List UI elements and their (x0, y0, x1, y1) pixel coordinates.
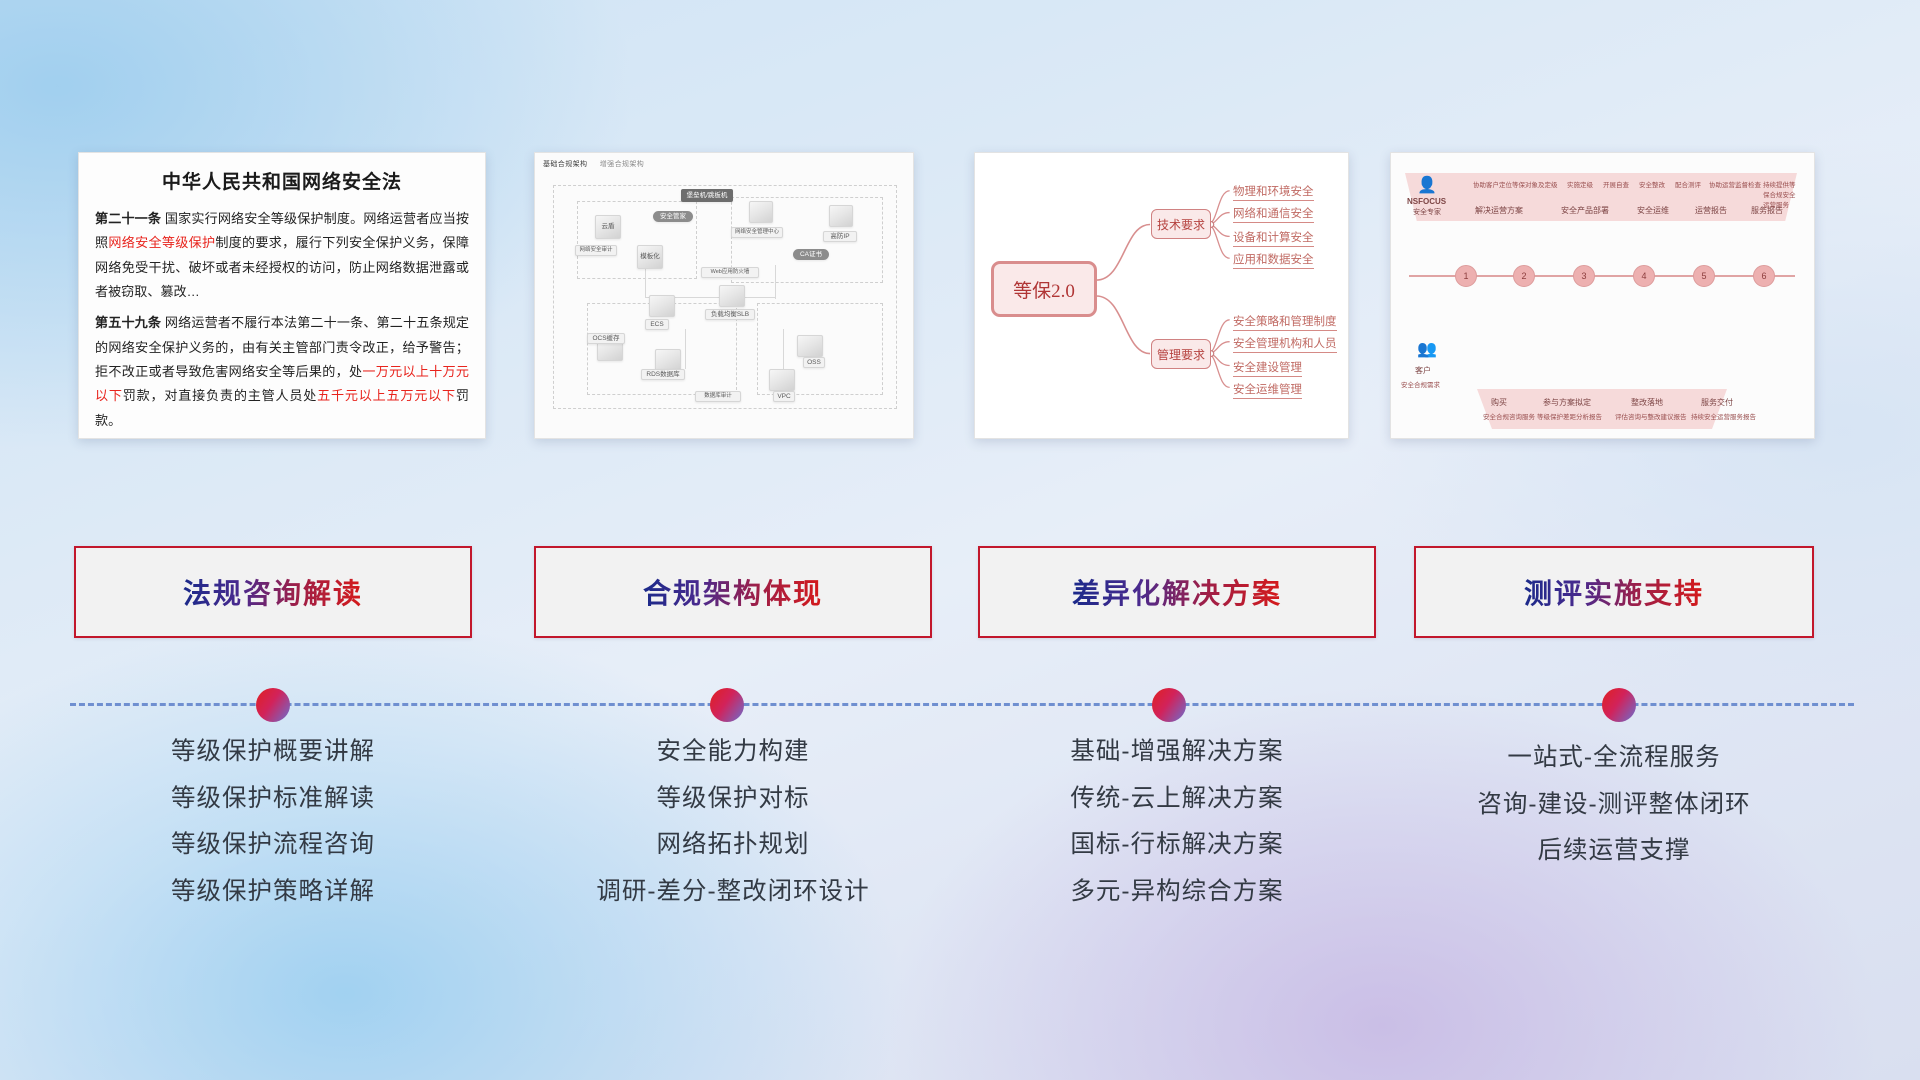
architecture-node-slb-label[interactable]: 负载均衡SLB (705, 309, 755, 320)
roadmap-row-item-2: 安全运维 (1637, 205, 1669, 216)
timeline-dot-3[interactable] (1152, 688, 1186, 722)
architecture-node-oss-label[interactable]: OSS (803, 357, 825, 368)
bullet-column-2: 基础-增强解决方案 传统-云上解决方案 国标-行标解决方案 多元-异构综合方案 (978, 740, 1376, 926)
headline-label-2: 差异化解决方案 (1072, 572, 1282, 612)
roadmap-step-1[interactable]: 1 (1455, 265, 1477, 287)
mindmap-leaf-construction-mgmt[interactable]: 安全建设管理 (1233, 359, 1302, 377)
architecture-node-ca-cert[interactable]: CA证书 (793, 249, 829, 260)
mindmap-root-node[interactable]: 等保2.0 (991, 261, 1097, 317)
architecture-node-ecs[interactable] (649, 295, 675, 317)
architecture-node-ocs-label[interactable]: OCS缓存 (587, 333, 625, 344)
list-item: 等级保护流程咨询 (74, 833, 472, 858)
roadmap-bottom-item-1: 参与方案拟定 (1543, 397, 1591, 408)
architecture-tab-enhanced[interactable]: 增强合规架构 (600, 161, 644, 168)
architecture-node-rds[interactable] (655, 349, 681, 371)
roadmap-left-label: 客户 (1415, 365, 1431, 376)
architecture-tab-basic[interactable]: 基础合规架构 (543, 161, 587, 168)
architecture-node-waf[interactable]: Web应用防火墙 (701, 267, 759, 278)
architecture-node-vpc[interactable] (769, 369, 795, 391)
timeline (0, 683, 1920, 727)
headline-label-1: 合规架构体现 (643, 572, 823, 612)
expert-avatar-icon: 👤 (1417, 175, 1437, 195)
headline-label-3: 测评实施支持 (1524, 572, 1704, 612)
headline-box-compliance-architecture[interactable]: 合规架构体现 (534, 546, 932, 638)
roadmap-bottom-sub-0: 安全合规咨询服务 (1483, 411, 1535, 421)
architecture-link (775, 265, 776, 299)
list-item: 网络拓扑规划 (534, 833, 932, 858)
roadmap-top-item-5: 协助运营监督检查 (1709, 179, 1761, 189)
law-article-21: 第二十一条 国家实行网络安全等级保护制度。网络运营者应当按照网络安全等级保护制度… (95, 207, 469, 304)
law-article-59-text-b: 罚款，对直接负责的主管人员处 (123, 388, 317, 403)
mindmap-leaf-device-compute[interactable]: 设备和计算安全 (1233, 229, 1314, 247)
roadmap-bottom-item-2: 整改落地 (1631, 397, 1663, 408)
law-article-21-highlight: 网络安全等级保护 (108, 235, 215, 250)
roadmap-top-item-2: 开展自查 (1603, 179, 1629, 189)
architecture-node-cloud-shield[interactable]: 云盾 (595, 215, 621, 239)
list-item: 安全能力构建 (534, 740, 932, 765)
law-document: 中华人民共和国网络安全法 第二十一条 国家实行网络安全等级保护制度。网络运营者应… (79, 153, 485, 439)
architecture-node-db-audit[interactable]: 数据库审计 (695, 391, 741, 402)
roadmap-step-3[interactable]: 3 (1573, 265, 1595, 287)
list-item: 等级保护对标 (534, 787, 932, 812)
architecture-node-security-center[interactable] (749, 201, 773, 223)
card-compliance-architecture[interactable]: 基础合规架构 增强合规架构 堡垒机/跳板机 安全管家 云盾 网络安全审计 模板化… (534, 152, 914, 439)
mindmap-branch-management[interactable]: 管理要求 (1151, 339, 1211, 369)
mindmap-leaf-ops-mgmt[interactable]: 安全运维管理 (1233, 381, 1302, 399)
roadmap-left-sub: 安全合规需求 (1401, 379, 1440, 389)
architecture-node-template[interactable]: 模板化 (637, 245, 663, 269)
list-item: 传统-云上解决方案 (978, 787, 1376, 812)
roadmap-bottom-item-3: 服务交付 (1701, 397, 1733, 408)
card-service-roadmap[interactable]: 👤 NSFOCUS 安全专家 协助客户定位等保对象及定级 实施定级 开展自查 安… (1390, 152, 1815, 439)
architecture-link (685, 329, 686, 369)
bullet-column-1: 安全能力构建 等级保护对标 网络拓扑规划 调研-差分-整改闭环设计 (534, 740, 932, 926)
list-item: 后续运营支撑 (1414, 839, 1814, 864)
roadmap-row-item-3: 运营报告 (1695, 205, 1727, 216)
list-item: 等级保护策略详解 (74, 880, 472, 905)
architecture-node-security-mgmt-center[interactable]: 网络安全管理中心 (731, 227, 783, 238)
mindmap-leaf-policy-system[interactable]: 安全策略和管理制度 (1233, 313, 1337, 331)
timeline-dot-1[interactable] (256, 688, 290, 722)
list-item: 调研-差分-整改闭环设计 (534, 880, 932, 905)
timeline-dot-2[interactable] (710, 688, 744, 722)
roadmap-bottom-sub-2: 评估咨询与整改建议报告 (1615, 411, 1687, 421)
architecture-node-bastion[interactable]: 堡垒机/跳板机 (681, 189, 733, 202)
mindmap-diagram: 等保2.0 技术要求 管理要求 物理和环境安全 网络和通信安全 设备和计算安全 … (975, 153, 1348, 438)
architecture-diagram: 基础合规架构 增强合规架构 堡垒机/跳板机 安全管家 云盾 网络安全审计 模板化… (535, 153, 913, 438)
list-item: 多元-异构综合方案 (978, 880, 1376, 905)
card-cybersecurity-law[interactable]: 中华人民共和国网络安全法 第二十一条 国家实行网络安全等级保护制度。网络运营者应… (78, 152, 486, 439)
bullet-column-3: 一站式-全流程服务 咨询-建设-测评整体闭环 后续运营支撑 (1414, 740, 1814, 886)
roadmap-row-item-0: 解决运营方案 (1475, 205, 1523, 216)
list-item: 等级保护标准解读 (74, 787, 472, 812)
list-item: 国标-行标解决方案 (978, 833, 1376, 858)
architecture-node-vpc-label[interactable]: VPC (773, 391, 795, 402)
roadmap-top-item-4: 配合测评 (1675, 179, 1701, 189)
roadmap-step-2[interactable]: 2 (1513, 265, 1535, 287)
roadmap-bottom-item-0: 购买 (1491, 397, 1507, 408)
card-mindmap-dengbao[interactable]: 等保2.0 技术要求 管理要求 物理和环境安全 网络和通信安全 设备和计算安全 … (974, 152, 1349, 439)
mindmap-leaf-app-data[interactable]: 应用和数据安全 (1233, 251, 1314, 269)
architecture-tabs: 基础合规架构 增强合规架构 (543, 159, 654, 169)
roadmap-row-item-4: 服务报告 (1751, 205, 1783, 216)
roadmap-brand: NSFOCUS (1407, 197, 1446, 206)
roadmap-top-item-3: 安全整改 (1639, 179, 1665, 189)
law-article-59: 第五十九条 网络运营者不履行本法第二十一条、第二十五条规定的网络安全保护义务的，… (95, 311, 469, 433)
architecture-node-slb[interactable] (719, 285, 745, 307)
roadmap-step-4[interactable]: 4 (1633, 265, 1655, 287)
list-item: 一站式-全流程服务 (1414, 746, 1814, 771)
law-article-59-highlight-2: 五千元以上五万元以下 (317, 388, 456, 403)
mindmap-leaf-physical-env[interactable]: 物理和环境安全 (1233, 183, 1314, 201)
mindmap-leaf-network-comm[interactable]: 网络和通信安全 (1233, 205, 1314, 223)
bullet-column-0: 等级保护概要讲解 等级保护标准解读 等级保护流程咨询 等级保护策略详解 (74, 740, 472, 926)
roadmap-bottom-band (1477, 389, 1727, 429)
screenshot-cards-row: 中华人民共和国网络安全法 第二十一条 国家实行网络安全等级保护制度。网络运营者应… (0, 152, 1920, 442)
roadmap-diagram: 👤 NSFOCUS 安全专家 协助客户定位等保对象及定级 实施定级 开展自查 安… (1391, 153, 1814, 438)
headline-label-0: 法规咨询解读 (183, 572, 363, 612)
roadmap-row-item-1: 安全产品部署 (1561, 205, 1609, 216)
headline-box-assessment-support[interactable]: 测评实施支持 (1414, 546, 1814, 638)
list-item: 等级保护概要讲解 (74, 740, 472, 765)
bullet-columns-row: 等级保护概要讲解 等级保护标准解读 等级保护流程咨询 等级保护策略详解 安全能力… (0, 740, 1920, 960)
architecture-node-network-audit[interactable]: 网络安全审计 (575, 245, 617, 256)
list-item: 基础-增强解决方案 (978, 740, 1376, 765)
law-article-59-label: 第五十九条 (95, 315, 161, 330)
roadmap-brand-sub: 安全专家 (1413, 207, 1441, 217)
architecture-node-firewall[interactable] (829, 205, 853, 227)
architecture-node-oss[interactable] (797, 335, 823, 357)
law-title: 中华人民共和国网络安全法 (95, 167, 469, 194)
customer-avatar-icon: 👥 (1417, 339, 1437, 359)
roadmap-top-item-1: 实施定级 (1567, 179, 1593, 189)
roadmap-step-6[interactable]: 6 (1753, 265, 1775, 287)
timeline-dashed-line (70, 703, 1854, 706)
headline-box-regulation-consulting[interactable]: 法规咨询解读 (74, 546, 472, 638)
law-article-21-label: 第二十一条 (95, 211, 161, 226)
mindmap-branch-technical[interactable]: 技术要求 (1151, 209, 1211, 239)
architecture-node-cloud-monitor[interactable]: 高防IP (823, 231, 857, 242)
architecture-node-ecs-label[interactable]: ECS (645, 319, 669, 330)
list-item: 咨询-建设-测评整体闭环 (1414, 793, 1814, 818)
roadmap-bottom-sub-3: 持续安全运营服务报告 (1691, 411, 1756, 421)
headline-boxes-row: 法规咨询解读 合规架构体现 差异化解决方案 测评实施支持 (0, 546, 1920, 638)
roadmap-top-item-0: 协助客户定位等保对象及定级 (1473, 179, 1558, 189)
architecture-node-rds-label[interactable]: RDS数据库 (641, 369, 685, 380)
roadmap-bottom-sub-1: 等级保护差距分析报告 (1537, 411, 1602, 421)
headline-box-differentiated-solution[interactable]: 差异化解决方案 (978, 546, 1376, 638)
architecture-node-security-butler[interactable]: 安全管家 (653, 211, 693, 222)
roadmap-step-5[interactable]: 5 (1693, 265, 1715, 287)
timeline-dot-4[interactable] (1602, 688, 1636, 722)
mindmap-leaf-org-personnel[interactable]: 安全管理机构和人员 (1233, 335, 1337, 353)
